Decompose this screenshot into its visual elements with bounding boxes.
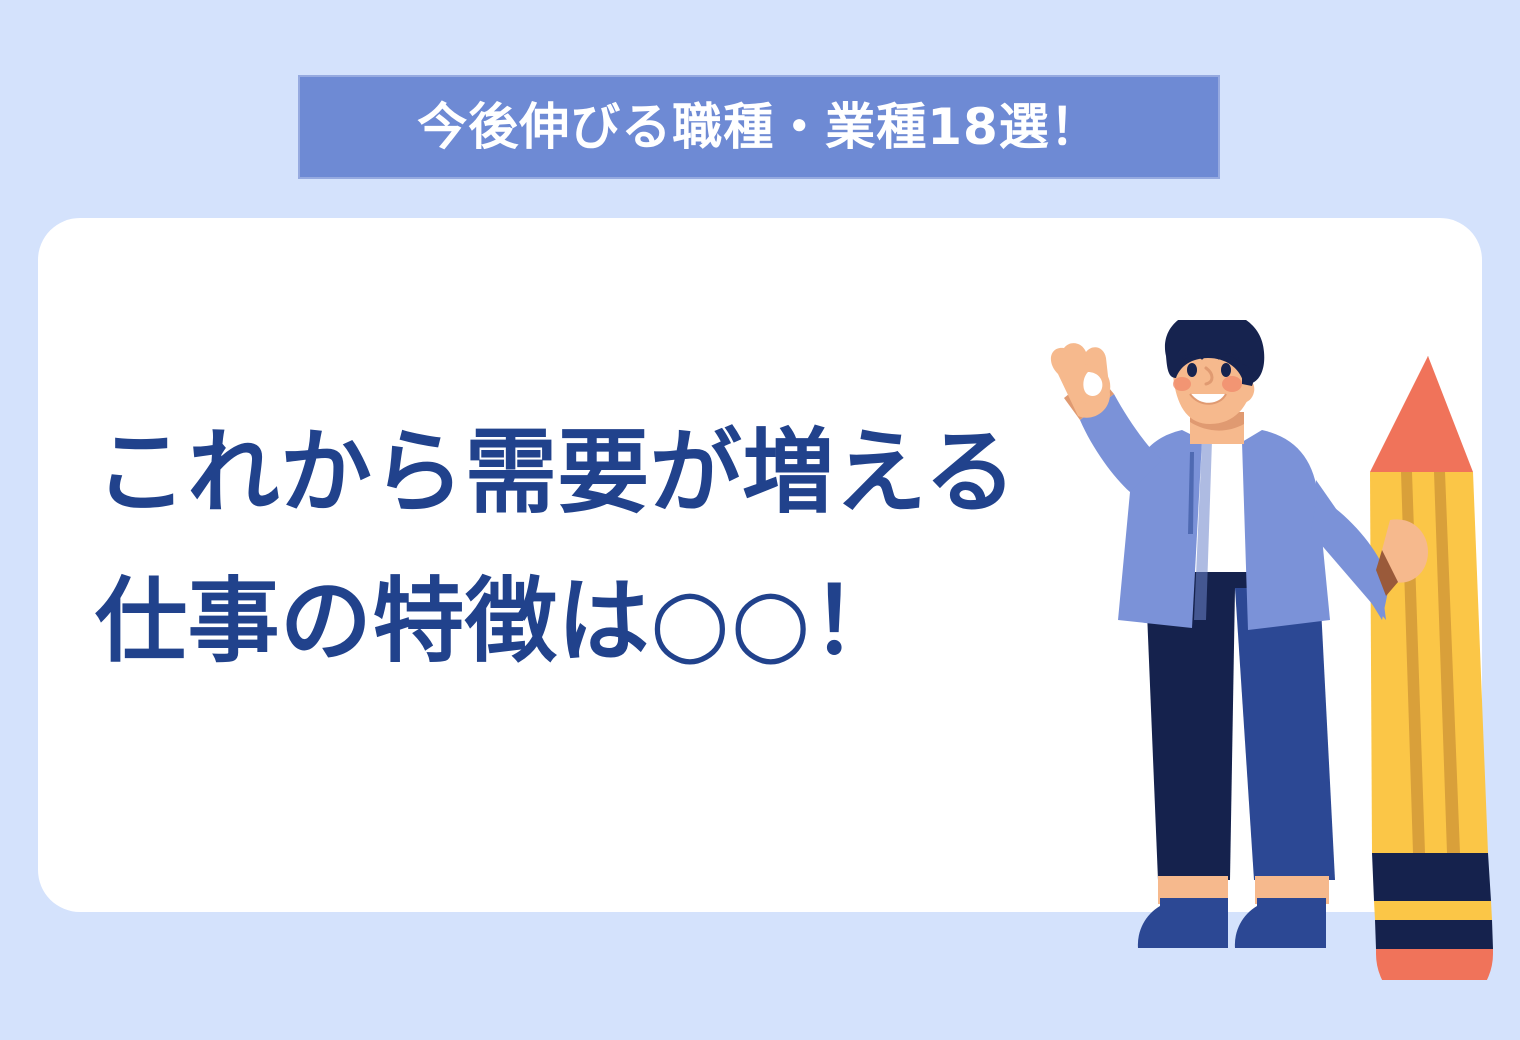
ok-hand-icon — [1051, 343, 1114, 420]
hero-illustration — [1030, 320, 1500, 980]
poster-canvas: 今後伸びる職種・業種18選！ これから需要が増える 仕事の特徴は○○！ — [0, 0, 1520, 1040]
head — [1165, 320, 1264, 444]
page-title-line-1: これから需要が増える — [95, 398, 1095, 547]
banner-ribbon: 今後伸びる職種・業種18選！ — [298, 75, 1220, 179]
page-title-line-2: 仕事の特徴は○○！ — [95, 547, 1095, 696]
shoes — [1138, 898, 1326, 948]
page-title: これから需要が増える 仕事の特徴は○○！ — [95, 398, 1095, 696]
pencil-icon — [1370, 356, 1493, 980]
banner-title: 今後伸びる職種・業種18選！ — [417, 102, 1101, 152]
